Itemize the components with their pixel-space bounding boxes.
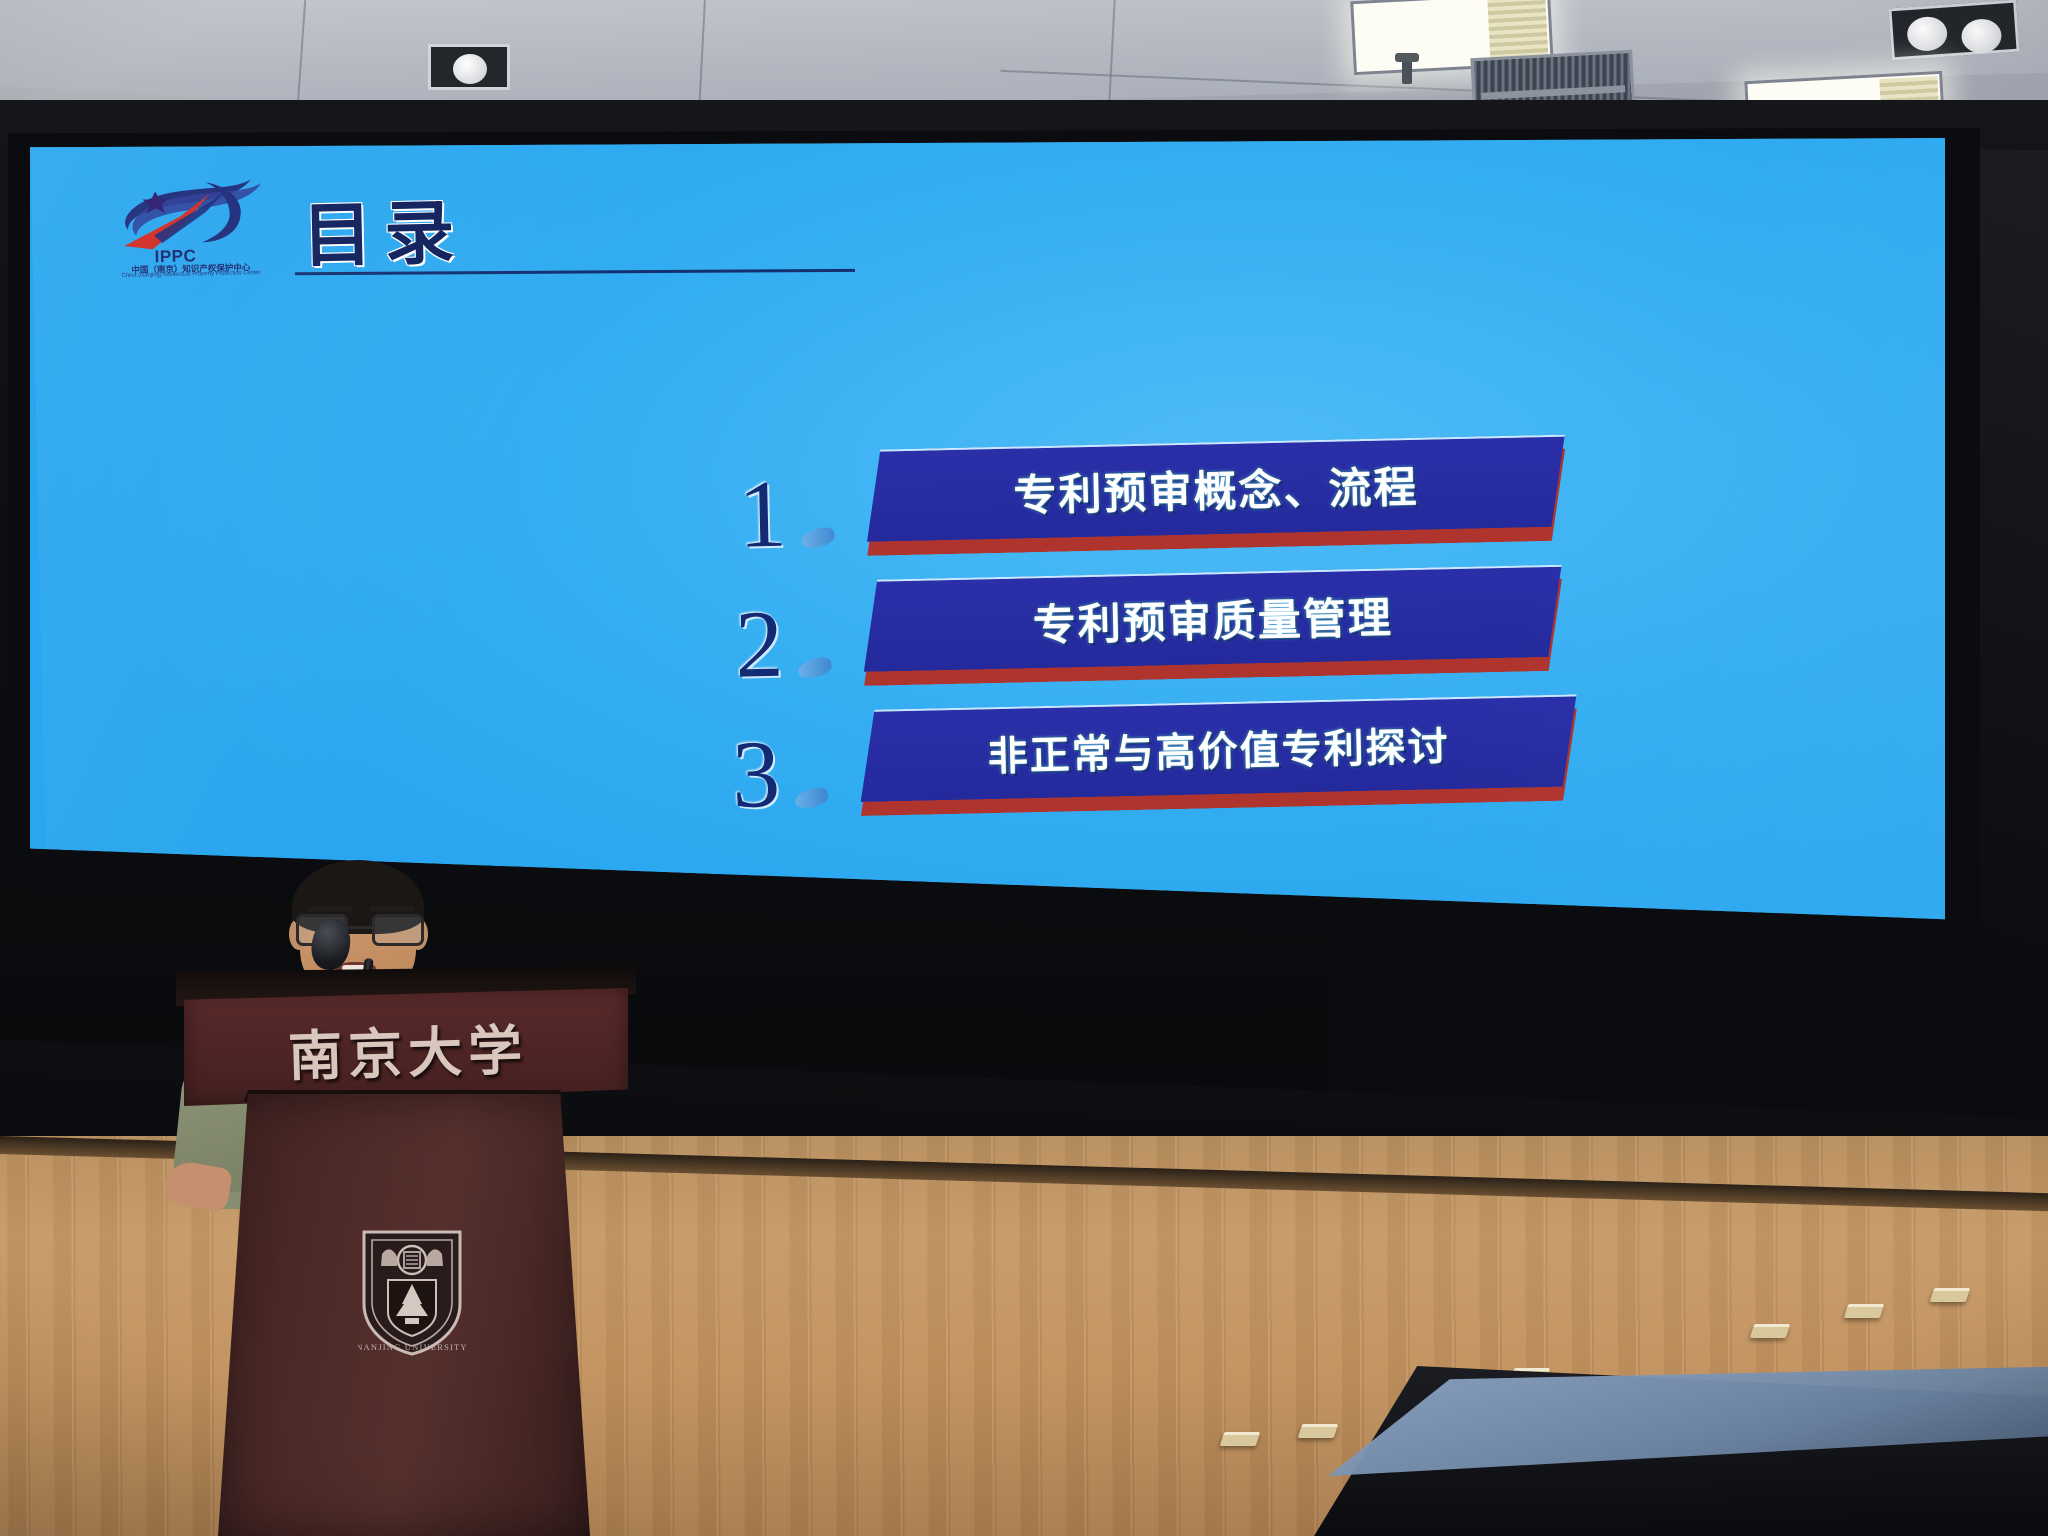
nanjing-university-emblem-icon: NANJING UNIVERSITY — [358, 1226, 466, 1358]
toc-item[interactable]: 1 专利预审概念、流程 — [737, 453, 740, 573]
light-louvers-icon — [1487, 0, 1548, 63]
sprinkler-head-icon — [1402, 58, 1412, 84]
floor-marker — [1220, 1432, 1261, 1446]
spotlight-icon — [1960, 18, 2002, 55]
toc-item-label: 专利预审概念、流程 — [865, 435, 1567, 542]
glasses-bridge — [348, 926, 372, 929]
toc-item-label: 专利预审质量管理 — [862, 565, 1564, 672]
floor-marker — [1298, 1424, 1339, 1438]
presentation-photo-scene: IPPC 中国（南京）知识产权保护中心 China (Nanjing) Inte… — [0, 0, 2048, 1536]
toc-sparkle-icon — [799, 525, 836, 550]
spotlight-housing — [428, 44, 510, 90]
toc-item-number: 3 — [731, 718, 781, 830]
toc-item-bar: 非正常与高价值专利探讨 — [859, 694, 1579, 822]
floor-marker — [1844, 1304, 1885, 1318]
spotlight-icon — [453, 54, 487, 84]
toc-sparkle-icon — [796, 655, 833, 680]
toc-item-bar: 专利预审质量管理 — [862, 565, 1564, 692]
svg-text:NANJING UNIVERSITY: NANJING UNIVERSITY — [358, 1342, 466, 1352]
lectern-plaque-text: 南京大学 — [247, 1004, 569, 1093]
toc-item[interactable]: 3 非正常与高价值专利探讨 — [731, 713, 734, 833]
floor-marker — [1750, 1324, 1791, 1338]
spotlight-icon — [1906, 16, 1948, 53]
lectern: 南京大学 NANJING UNIVERSITY — [176, 966, 636, 1536]
toc-item[interactable]: 2 专利预审质量管理 — [734, 583, 737, 703]
toc-item-label: 非正常与高价值专利探讨 — [859, 694, 1579, 802]
spotlight-housing-pair — [1888, 0, 2019, 60]
toc-item-number: 2 — [734, 588, 784, 700]
toc-sparkle-icon — [793, 785, 830, 810]
presenter-eyebrow-left — [308, 906, 352, 912]
floor-marker — [1930, 1288, 1971, 1302]
toc-item-bar: 专利预审概念、流程 — [865, 435, 1567, 562]
glasses-lens-right — [372, 914, 424, 946]
presenter-eyebrow-right — [370, 906, 414, 912]
toc-item-number: 1 — [737, 458, 787, 570]
